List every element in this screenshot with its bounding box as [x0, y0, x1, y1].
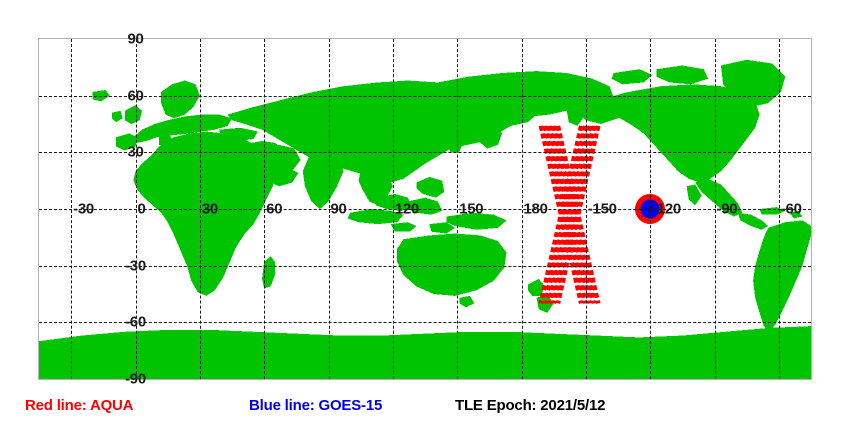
legend-red-line: Red line: AQUA — [25, 398, 133, 413]
lon-label: -60 — [781, 202, 802, 217]
lon-label: 60 — [266, 202, 282, 217]
lon-label: -30 — [73, 202, 94, 217]
map-plot-area — [39, 39, 811, 379]
legend: Red line: AQUA Blue line: GOES-15 TLE Ep… — [0, 393, 850, 421]
legend-blue-line: Blue line: GOES-15 — [249, 398, 382, 413]
lat-label: -60 — [125, 315, 146, 330]
lat-label: 90 — [127, 32, 143, 47]
legend-tle-epoch: TLE Epoch: 2021/5/12 — [455, 398, 605, 413]
lon-label: 150 — [459, 202, 483, 217]
lon-label: -150 — [588, 202, 617, 217]
landmass-layer — [39, 39, 811, 379]
lat-label: -30 — [125, 258, 146, 273]
lon-label: 30 — [202, 202, 218, 217]
lon-label: 90 — [331, 202, 347, 217]
lon-label: -120 — [652, 202, 681, 217]
lat-label: 30 — [127, 145, 143, 160]
world-map: -300306090120150180-150-120-90-60906030-… — [38, 38, 812, 380]
lon-label: -90 — [717, 202, 738, 217]
lat-label: -90 — [125, 372, 146, 387]
lon-label: 180 — [524, 202, 548, 217]
lon-label: 0 — [138, 202, 146, 217]
lon-label: 120 — [395, 202, 419, 217]
lat-label: 60 — [127, 88, 143, 103]
